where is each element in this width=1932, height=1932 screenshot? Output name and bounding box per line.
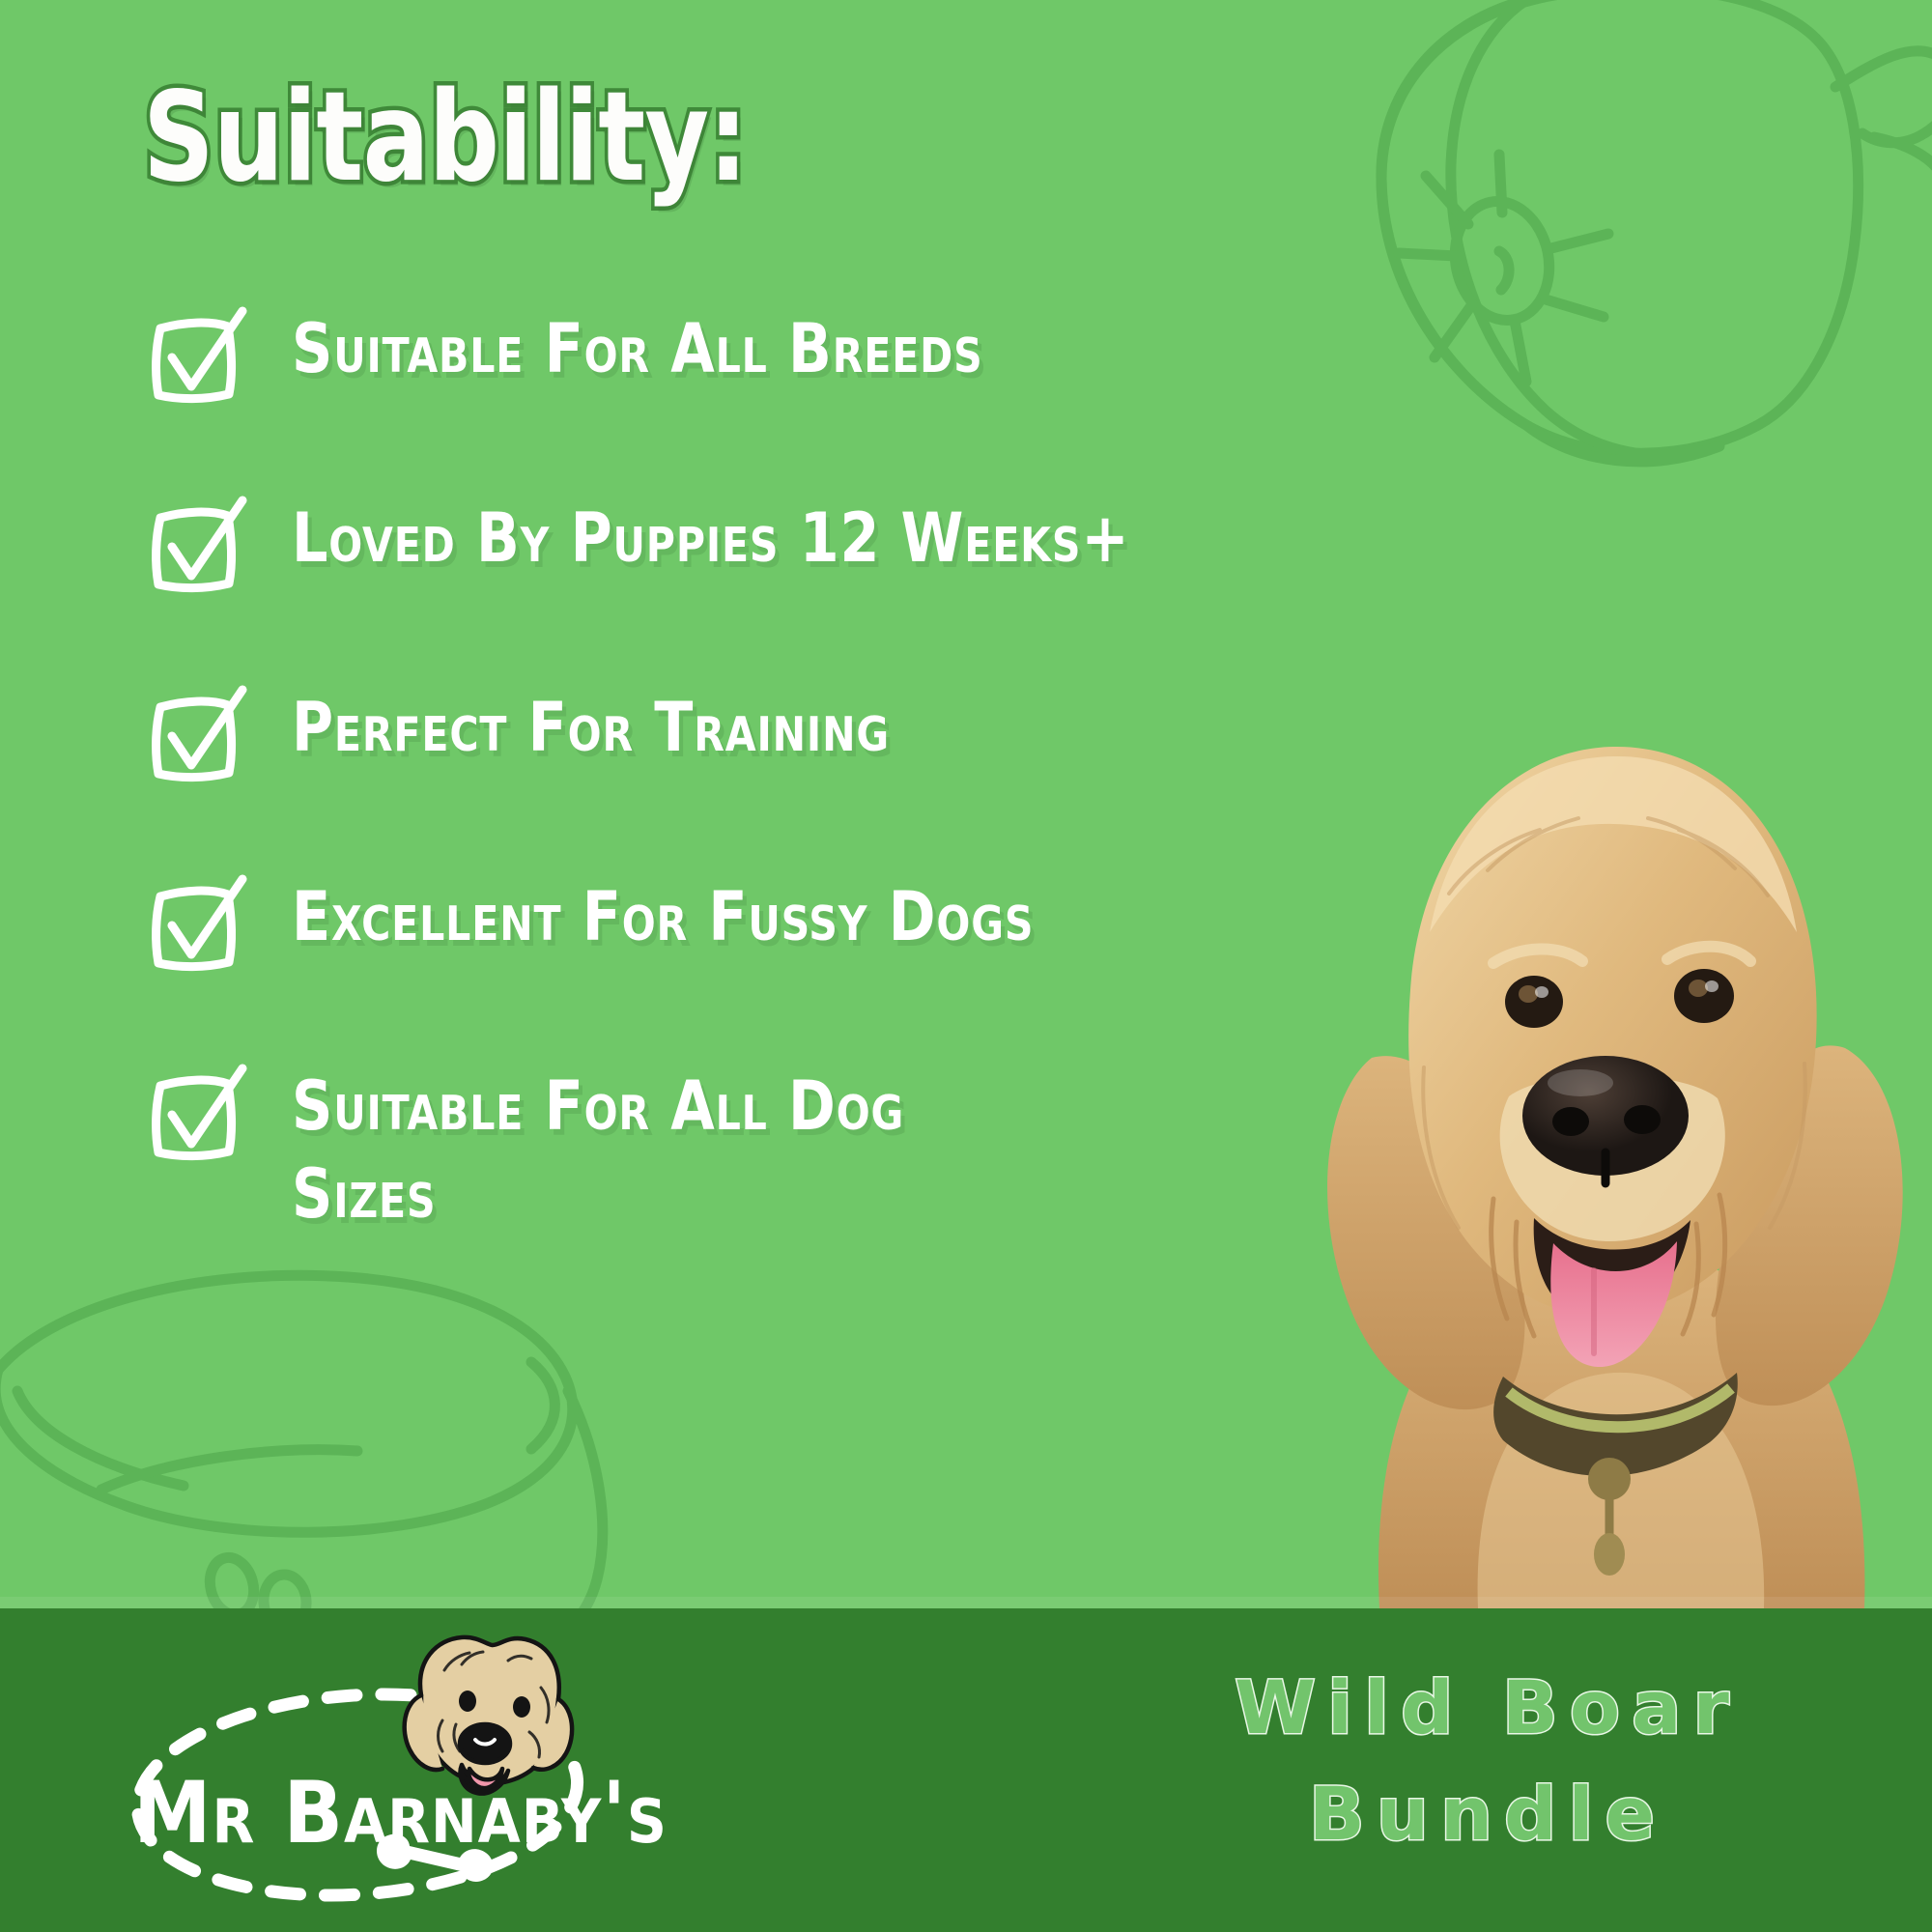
checkbox-checked-icon xyxy=(145,303,251,408)
checkbox-checked-icon xyxy=(145,871,251,976)
product-name-line2: Bundle xyxy=(1140,1761,1835,1867)
product-name: Wild Boar Bundle xyxy=(1140,1655,1835,1867)
promo-graphic: Suitability: Suitable For All Breeds xyxy=(0,0,1932,1932)
dog-photo xyxy=(1304,642,1922,1608)
list-item: Perfect For Training xyxy=(145,678,1420,786)
suitability-list: Suitable For All Breeds Loved By Puppies… xyxy=(145,299,1420,1238)
list-item: Excellent For Fussy Dogs xyxy=(145,867,1420,976)
footer-bar: Mr Barnaby's Wild Boar Bundle xyxy=(0,1608,1932,1932)
checkbox-checked-icon xyxy=(145,493,251,597)
list-item-label: Suitable For All Breeds xyxy=(292,299,983,393)
brand-name: Mr Barnaby's xyxy=(133,1771,668,1856)
list-item-label: Suitable For All Dog Sizes xyxy=(292,1057,904,1238)
page-title: Suitability: xyxy=(143,75,747,202)
list-item: Suitable For All Breeds xyxy=(145,299,1420,408)
checkbox-checked-icon xyxy=(145,682,251,786)
list-item-label: Excellent For Fussy Dogs xyxy=(292,867,1034,961)
list-item: Suitable For All Dog Sizes xyxy=(145,1057,1420,1238)
checkbox-checked-icon xyxy=(145,1061,251,1165)
list-item-label: Perfect For Training xyxy=(292,678,890,772)
list-item-label: Loved By Puppies 12 Weeks+ xyxy=(292,489,1129,582)
brand-logo[interactable]: Mr Barnaby's xyxy=(116,1626,657,1916)
footer-divider xyxy=(0,1597,1932,1608)
list-item: Loved By Puppies 12 Weeks+ xyxy=(145,489,1420,597)
product-name-line1: Wild Boar xyxy=(1140,1655,1835,1761)
